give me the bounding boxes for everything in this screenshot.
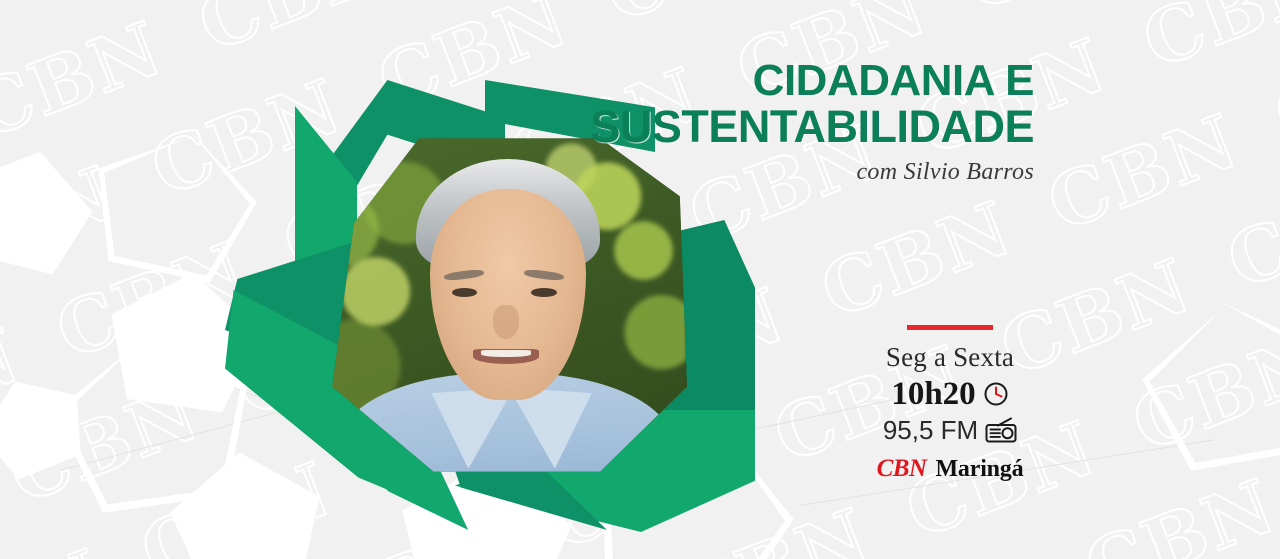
clock-icon [983,381,1009,407]
watermark-cbn: CBN [0,370,211,520]
watermark-cbn: CBN [1074,463,1280,559]
watermark-cbn: CBN [0,6,174,156]
watermark-cbn: CBN [1132,0,1280,86]
host-portrait [325,135,687,475]
station-brand-cbn: CBN [877,455,927,483]
schedule-time-value: 10h20 [891,375,975,413]
schedule-days: Seg a Sexta [860,342,1040,373]
watermark-cbn: CBN [1037,98,1250,248]
program-banner: CBNCBNCBNCBNCBNCBNCBNCBNCBNCBNCBNCBNCBNC… [0,0,1280,559]
watermark-cbn: CBN [0,313,32,463]
decor-pentagon [0,136,103,290]
station-logo: CBN Maringá [860,455,1040,483]
watermark-cbn: CBN [188,0,401,69]
program-title-block: CIDADANIA E SUSTENTABILIDADE com Silvio … [394,58,1034,186]
watermark-cbn: CBN [848,550,1061,559]
program-title-line-2: SUSTENTABILIDADE [394,104,1034,150]
radio-icon [985,417,1017,443]
watermark-cbn: CBN [952,0,1165,28]
watermark-cbn: CBN [1264,11,1280,161]
decor-pentagon-outline [1131,286,1280,491]
watermark-cbn: CBN [1216,156,1280,306]
watermark-cbn: CBN [594,0,807,39]
schedule-frequency-value: 95,5 FM [883,414,978,446]
schedule-time-row: 10h20 [860,375,1040,413]
station-city-maringa: Maringá [935,456,1023,483]
portrait-figure [325,135,687,475]
schedule-block: Seg a Sexta 10h20 95,5 FM [860,325,1040,483]
decor-pentagon [0,362,101,494]
accent-divider [907,325,993,330]
program-title-line-1: CIDADANIA E [394,58,1034,104]
schedule-frequency-row: 95,5 FM [860,414,1040,446]
host-credit: com Silvio Barros [394,159,1034,186]
watermark-cbn: CBN [310,504,523,559]
watermark-cbn: CBN [0,533,116,559]
watermark-cbn: CBN [1122,318,1280,468]
watermark-cbn: CBN [0,150,127,300]
watermark-cbn: CBN [810,185,1023,335]
